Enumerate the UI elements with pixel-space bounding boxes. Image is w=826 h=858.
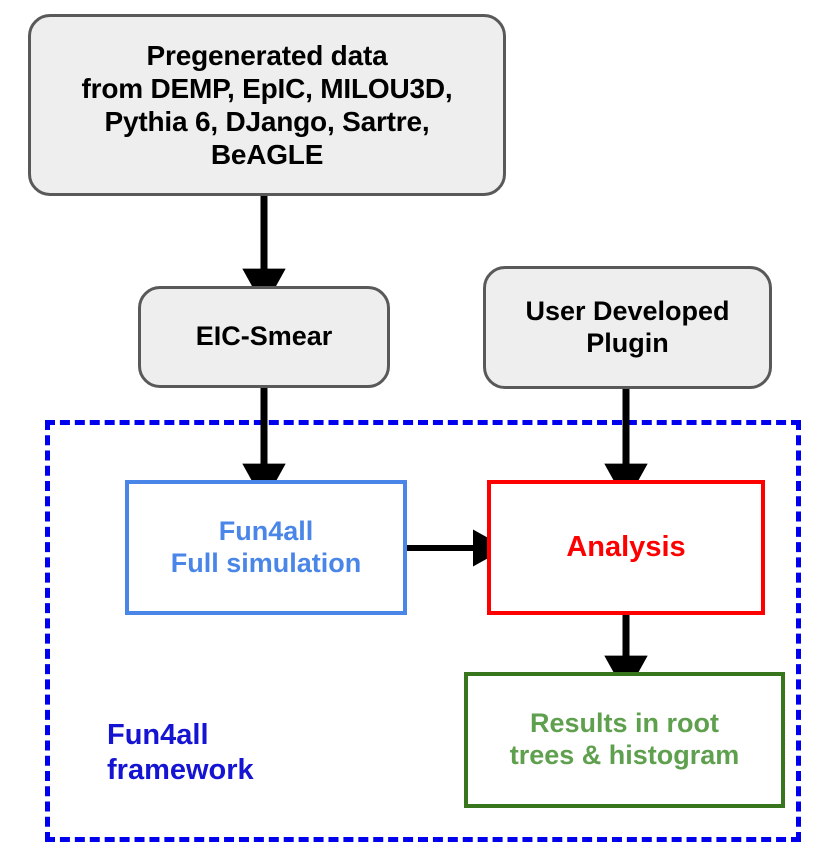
node-results-root-trees-histogram-label: Results in root trees & histogram xyxy=(510,708,740,772)
node-eic-smear: EIC-Smear xyxy=(138,286,390,388)
node-user-developed-plugin: User Developed Plugin xyxy=(483,266,772,389)
node-analysis-label: Analysis xyxy=(566,530,685,564)
node-fun4all-full-simulation-label: Fun4all Full simulation xyxy=(171,516,362,580)
node-user-developed-plugin-label: User Developed Plugin xyxy=(525,296,729,360)
node-results-root-trees-histogram: Results in root trees & histogram xyxy=(464,672,785,808)
node-pregenerated-data: Pregenerated data from DEMP, EpIC, MILOU… xyxy=(28,14,506,196)
node-eic-smear-label: EIC-Smear xyxy=(196,321,333,353)
node-analysis: Analysis xyxy=(487,480,765,615)
node-pregenerated-data-label: Pregenerated data from DEMP, EpIC, MILOU… xyxy=(82,39,453,171)
node-fun4all-full-simulation: Fun4all Full simulation xyxy=(125,480,407,615)
fun4all-framework-label: Fun4all framework xyxy=(107,718,254,789)
diagram-canvas: Pregenerated data from DEMP, EpIC, MILOU… xyxy=(0,0,826,858)
